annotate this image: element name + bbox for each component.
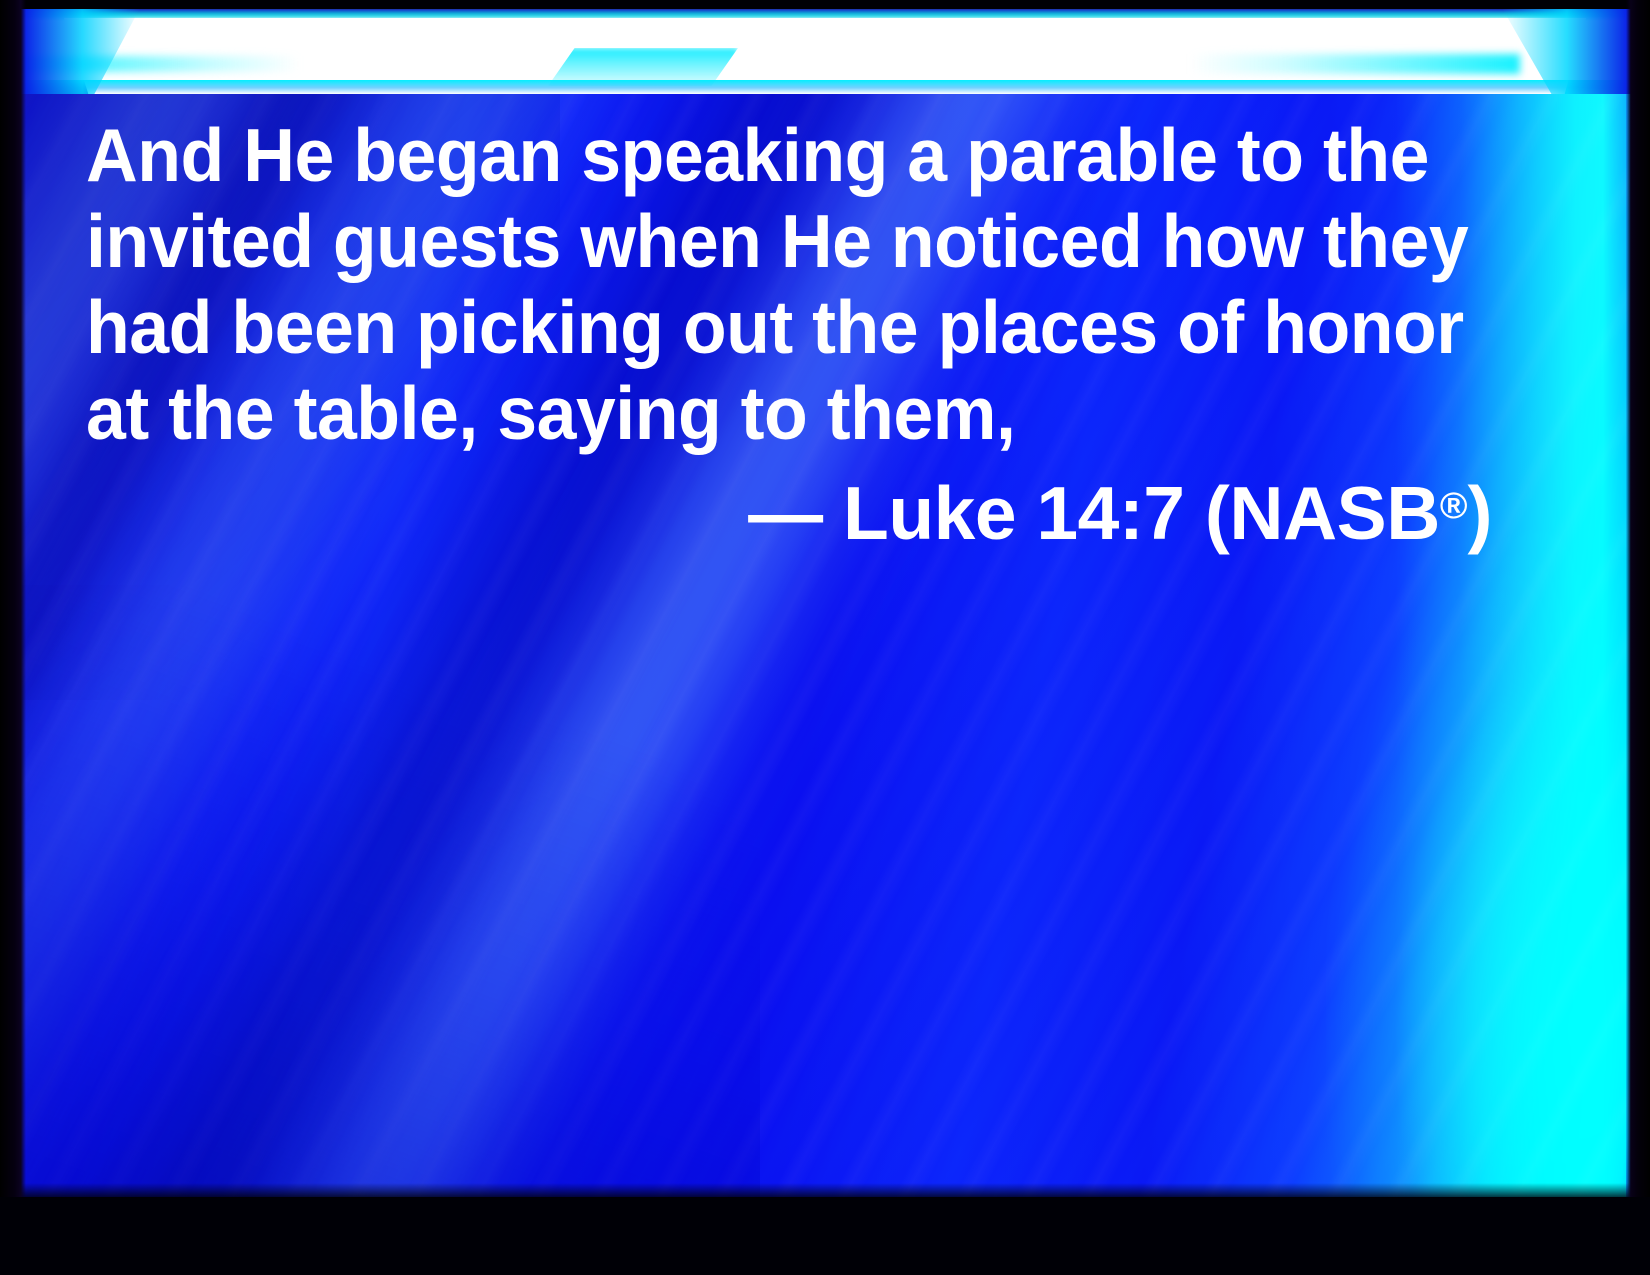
verse-line-4: at the table, saying to them, (86, 370, 1442, 456)
frame-border-bottom (0, 1197, 1650, 1275)
attribution-space-3 (1185, 471, 1205, 555)
top-band-cyan-notch-right (1190, 54, 1520, 74)
frame-border-right (1626, 0, 1650, 1275)
verse-line-1: And He began speaking a parable to the (86, 112, 1442, 198)
attribution-em-dash: — (748, 471, 823, 555)
attribution-translation: NASB (1229, 471, 1440, 555)
attribution-space-1 (823, 471, 843, 555)
verse-slide: And He began speaking a parable to the i… (0, 0, 1650, 1275)
frame-border-left (0, 0, 26, 1275)
attribution-open-paren: ( (1205, 471, 1229, 555)
registered-trademark-icon: ® (1440, 484, 1468, 526)
attribution-reference: 14:7 (1036, 471, 1184, 555)
verse-line-2: invited guests when He noticed how they (86, 198, 1442, 284)
verse-text-block: And He began speaking a parable to the i… (86, 112, 1506, 556)
top-glow-band (0, 8, 1650, 94)
attribution-book: Luke (843, 471, 1016, 555)
top-band-cyan-underline (0, 80, 1650, 94)
verse-line-3: had been picking out the places of honor (86, 284, 1442, 370)
attribution-close-paren: ) (1468, 471, 1492, 555)
frame-border-top (0, 0, 1650, 9)
cyan-bloom-glow (1326, 505, 1626, 1205)
attribution-space-2 (1016, 471, 1036, 555)
verse-attribution: — Luke 14:7 (NASB®) (86, 462, 1506, 556)
